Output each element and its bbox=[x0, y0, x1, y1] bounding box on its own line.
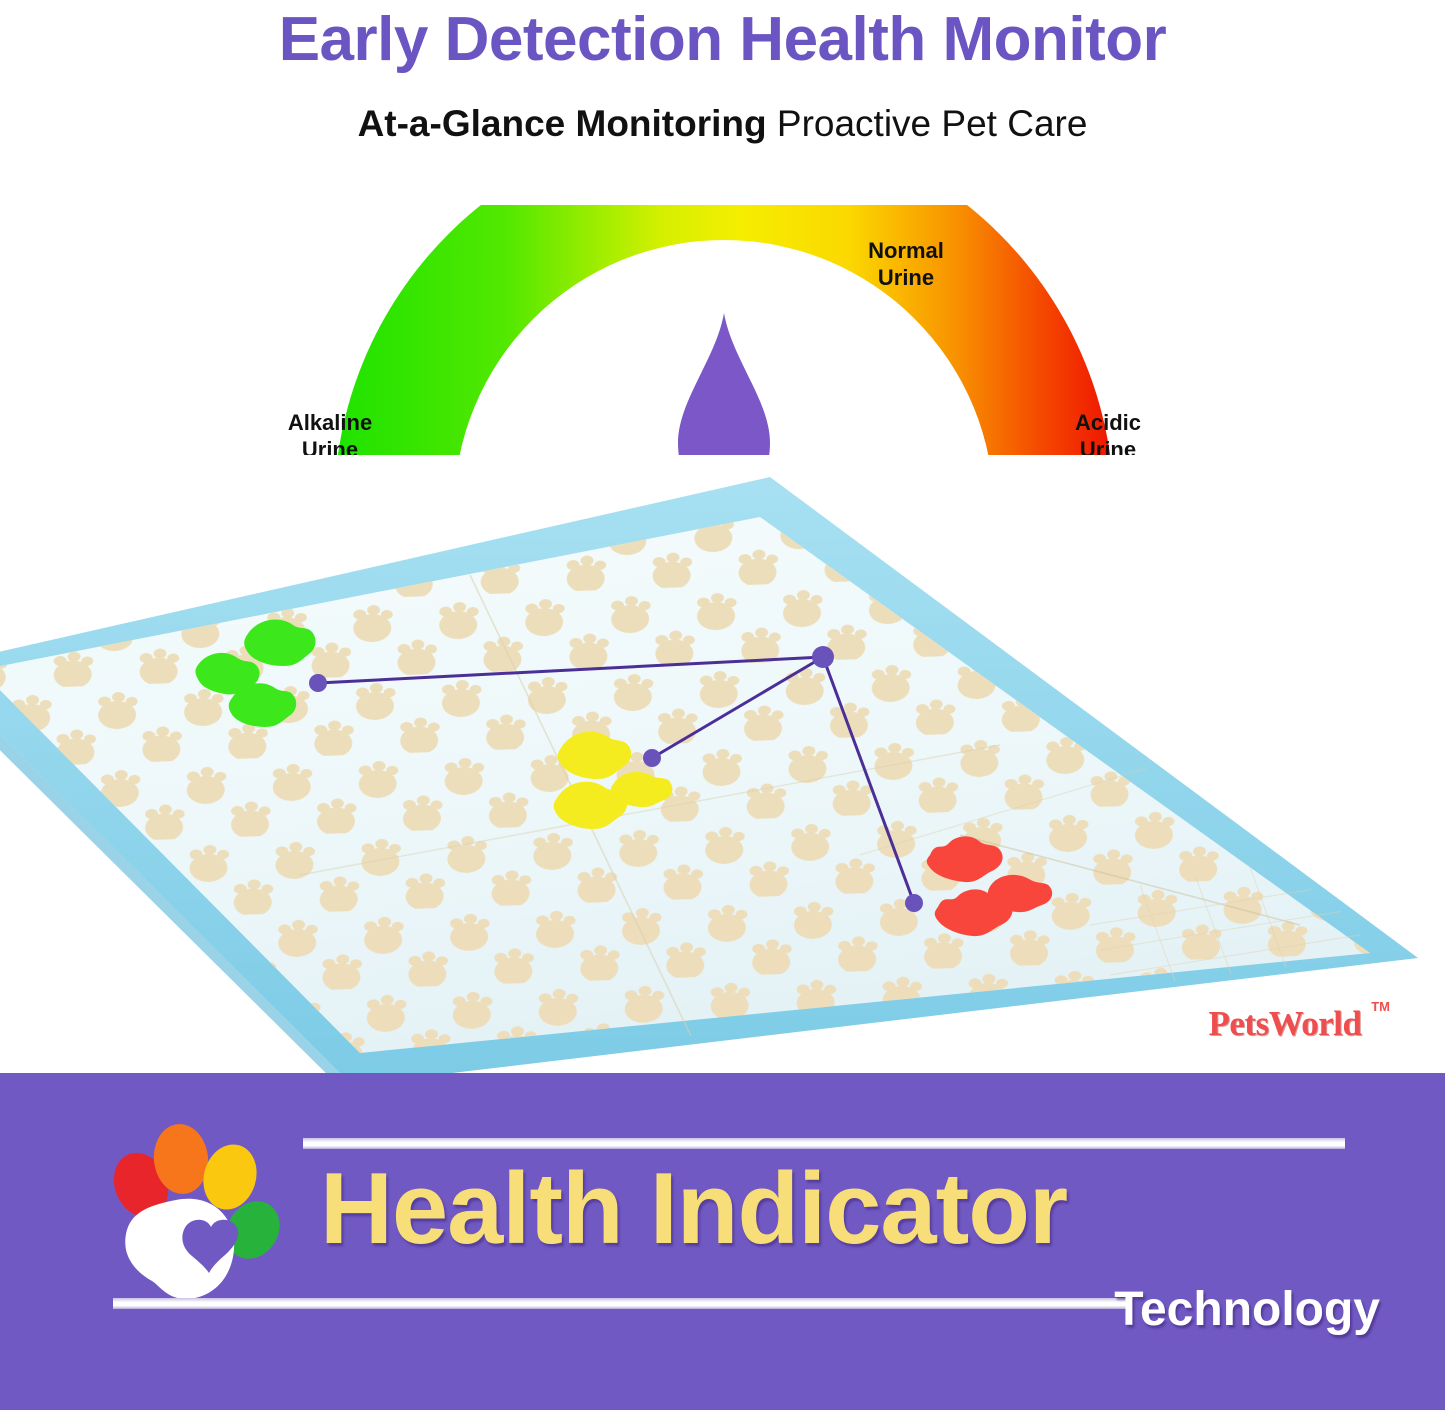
connector-node-hub bbox=[812, 646, 834, 668]
pad-illustration bbox=[0, 455, 1445, 1080]
gauge-label-normal-line2: Urine bbox=[878, 265, 934, 290]
gauge-label-alkaline-line1: Alkaline bbox=[288, 410, 372, 435]
subtitle-bold-part: At-a-Glance Monitoring bbox=[358, 103, 767, 144]
connector-node-red bbox=[905, 894, 923, 912]
subtitle-regular-part: Proactive Pet Care bbox=[767, 103, 1088, 144]
paw-heart-logo bbox=[108, 1115, 293, 1310]
footer-title: Health Indicator bbox=[320, 1152, 1380, 1267]
connector-node-yellow bbox=[643, 749, 661, 767]
footer-divider-top bbox=[303, 1138, 1345, 1149]
brand-name: PetsWorld bbox=[1209, 1004, 1362, 1044]
page-subtitle: At-a-Glance Monitoring Proactive Pet Car… bbox=[0, 103, 1445, 145]
gauge-label-acidic-line1: Acidic bbox=[1075, 410, 1141, 435]
gauge-label-normal: Normal Urine bbox=[816, 238, 996, 292]
petsworld-logo-badge: PetsWorld TM bbox=[1152, 993, 1418, 1055]
page-title: Early Detection Health Monitor bbox=[0, 4, 1445, 75]
gauge-label-normal-line1: Normal bbox=[868, 238, 944, 263]
header-block: Early Detection Health Monitor At-a-Glan… bbox=[0, 0, 1445, 185]
footer-subtitle: Technology bbox=[0, 1282, 1380, 1337]
pee-pad-photo bbox=[0, 455, 1445, 1080]
trademark-icon: TM bbox=[1371, 999, 1390, 1014]
connector-node-green bbox=[309, 674, 327, 692]
